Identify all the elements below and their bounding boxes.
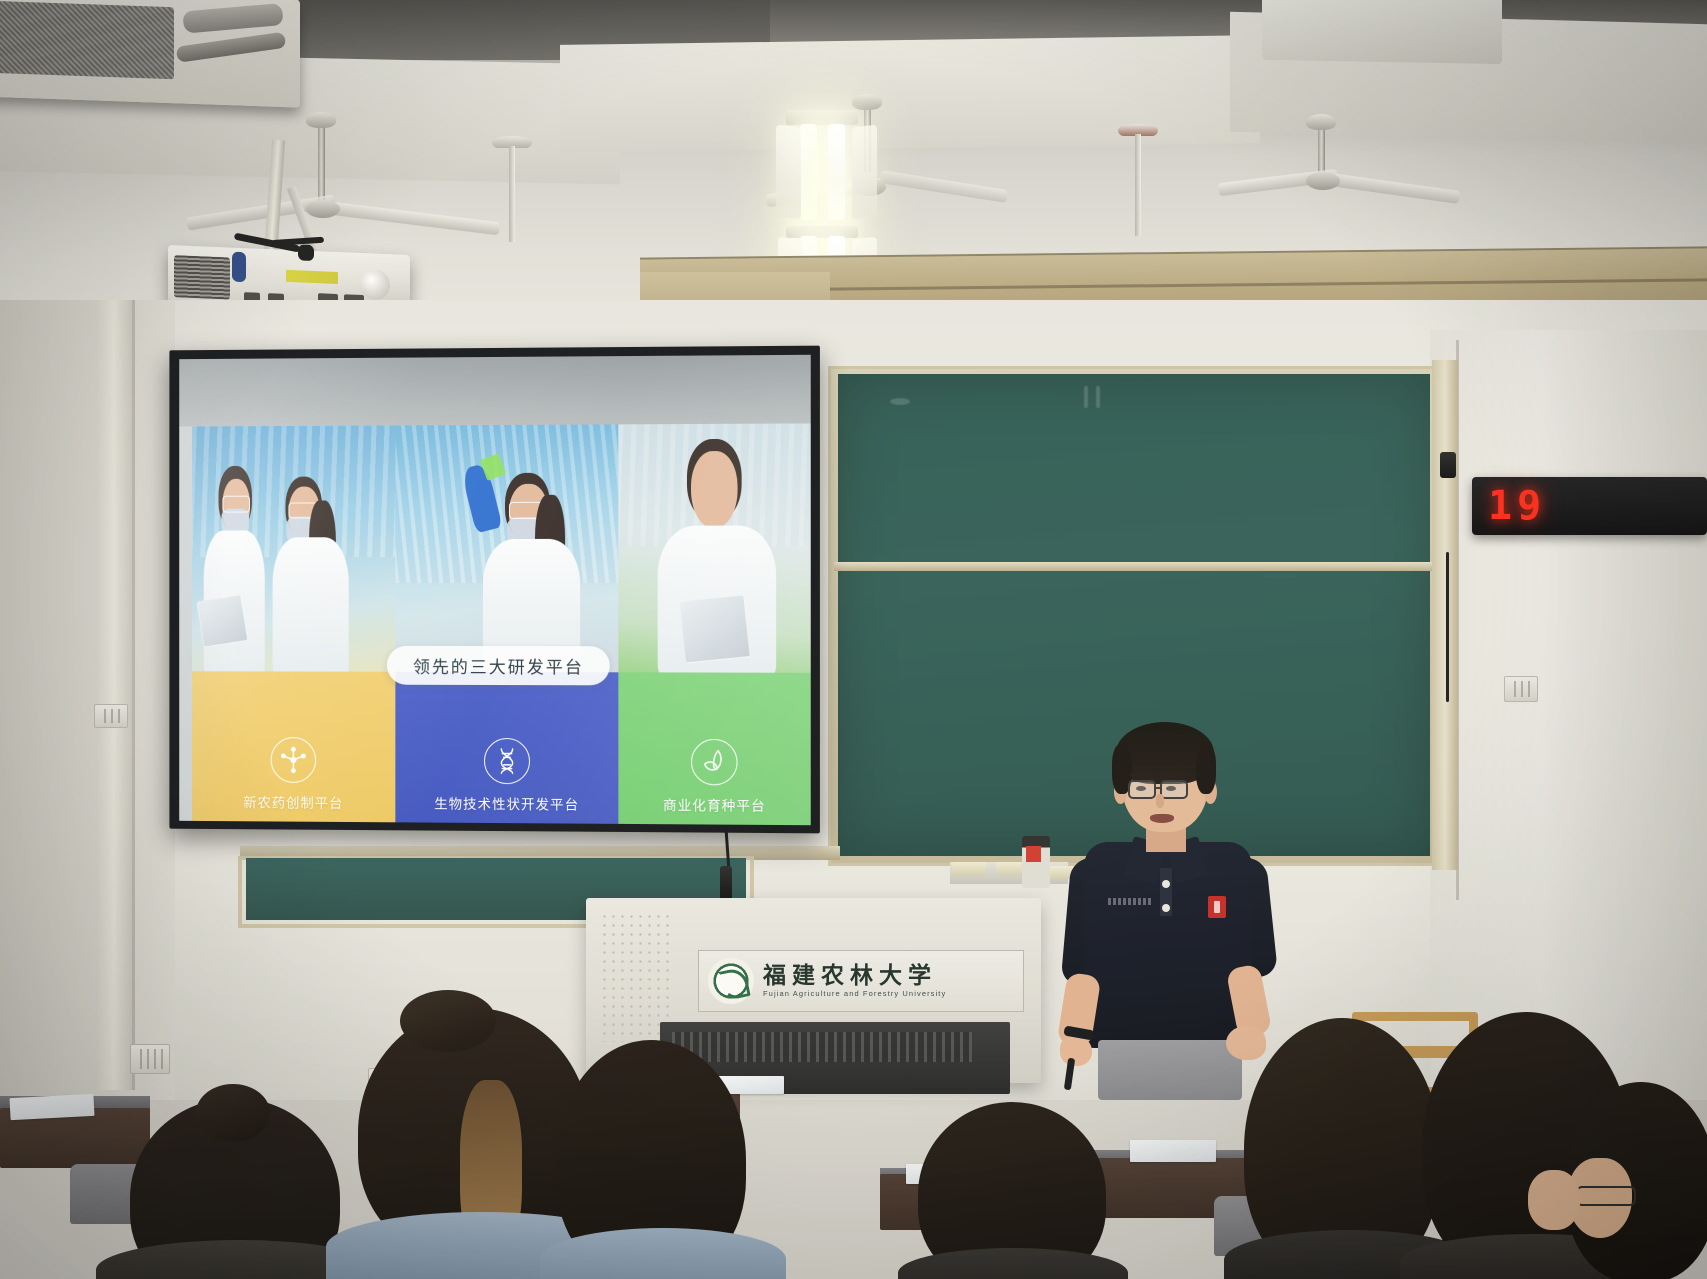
projector-lens-icon — [360, 269, 390, 300]
shirt-logo-patch — [1208, 896, 1226, 918]
wall-outlet — [130, 1044, 170, 1074]
presenter-mouth — [1150, 814, 1174, 823]
molecule-icon — [271, 737, 316, 783]
classroom-scene: 19 — [0, 0, 1707, 1279]
presenter — [1060, 728, 1290, 1088]
podium-nameplate: 福建农林大学 Fujian Agriculture and Forestry U… — [698, 950, 1024, 1012]
presentation-slide: 领先的三大研发平台 — [192, 423, 811, 825]
presenter-left-hand — [1060, 1036, 1092, 1066]
projector-vent-icon — [174, 255, 230, 299]
chalkboard-side-track — [1432, 360, 1458, 870]
wall-seam — [132, 300, 135, 1090]
wall-outlet — [94, 704, 128, 728]
hanging-microphone — [720, 866, 732, 900]
desk-paper — [1130, 1140, 1216, 1162]
eyeglasses-icon — [1160, 780, 1188, 799]
slide-photo-agronomist-tablet — [618, 423, 810, 680]
slide-card-label: 生物技术性状开发平台 — [434, 793, 579, 814]
eyeglasses-icon — [1576, 1186, 1636, 1206]
eyeglasses-bridge — [1156, 787, 1162, 789]
wall-sensor — [1440, 452, 1456, 478]
ac-grille-icon — [0, 1, 174, 80]
dna-helix-icon — [484, 738, 530, 784]
ceiling-panel-2 — [560, 35, 1260, 153]
chalk-eraser — [952, 862, 986, 876]
slide-card-label: 新农药创制平台 — [243, 791, 343, 812]
shirt-button — [1162, 880, 1170, 888]
cabinet-vent-icon — [672, 1032, 972, 1062]
slide-photo-lab-researchers-tablet — [192, 425, 396, 679]
digital-clock: 19 — [1472, 477, 1707, 535]
slide-title-pill: 领先的三大研发平台 — [387, 645, 610, 685]
wall-cable — [1446, 552, 1449, 702]
ceiling-air-conditioner — [0, 0, 300, 108]
presenter-hair-side — [1196, 744, 1216, 794]
ac-vent-icon — [175, 32, 286, 63]
projection-screen-surface: 领先的三大研发平台 — [179, 355, 811, 825]
presenter-trousers — [1098, 1040, 1242, 1100]
student-hand — [1528, 1170, 1580, 1230]
wall-pillar — [96, 300, 132, 1090]
sprout-leaf-icon — [691, 739, 738, 786]
clock-digits: 19 — [1488, 483, 1546, 529]
ac-vent-icon — [182, 3, 284, 34]
slide-card-commercial-breeding-platform: 商业化育种平台 — [618, 672, 810, 825]
slide-platform-cards: 新农药创制平台 — [192, 671, 811, 825]
ceiling-air-conditioner-right — [1262, 0, 1502, 64]
left-wall — [0, 300, 175, 1100]
slide-card-biotech-trait-platform: 生物技术性状开发平台 — [395, 671, 618, 824]
water-bottle — [1022, 836, 1050, 888]
chalkboard-rail — [834, 562, 1434, 571]
slide-card-label: 商业化育种平台 — [663, 794, 766, 815]
shirt-chest-text — [1108, 898, 1152, 905]
bottle-label — [1026, 846, 1041, 862]
university-seal-icon — [708, 958, 754, 1004]
slide-card-new-pesticide-platform: 新农药创制平台 — [192, 671, 396, 822]
presenter-right-hand — [1226, 1026, 1266, 1060]
slide-photo-strip — [192, 423, 811, 680]
right-wall — [1430, 330, 1707, 1100]
presenter-eyebrow — [1130, 773, 1152, 777]
screen-blank-band — [179, 355, 811, 426]
presenter-eyebrow — [1162, 773, 1184, 777]
university-name-cn: 福建农林大学 — [763, 964, 946, 987]
eyeglasses-icon — [1128, 780, 1156, 799]
projector-label — [286, 270, 338, 284]
university-name-en: Fujian Agriculture and Forestry Universi… — [763, 990, 946, 998]
wall-outlet — [1504, 676, 1538, 702]
slide-photo-researcher-sample — [395, 424, 618, 680]
shirt-button — [1162, 904, 1170, 912]
projection-screen: 领先的三大研发平台 — [169, 346, 819, 834]
desk-paper — [9, 1094, 94, 1120]
presenter-nose — [1156, 794, 1164, 808]
